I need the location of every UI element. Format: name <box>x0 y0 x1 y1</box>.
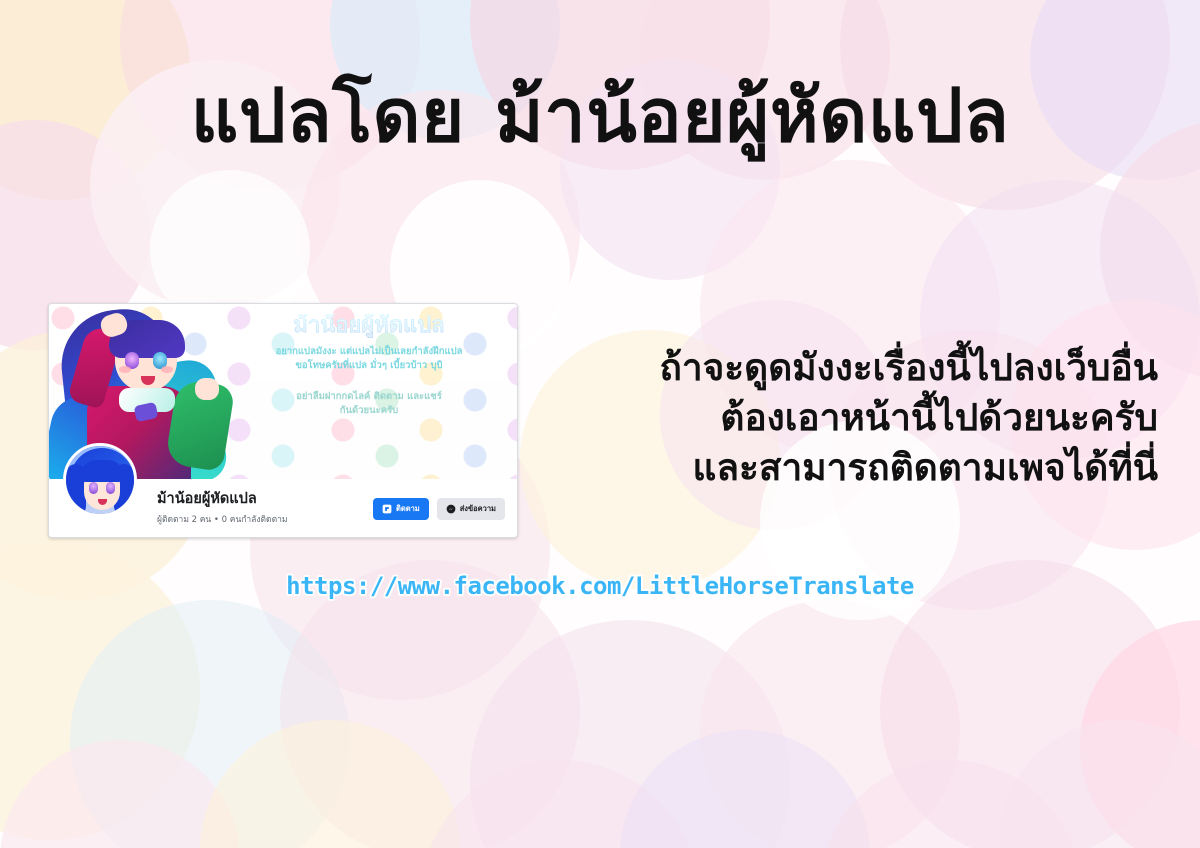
cover-text-block: ม้าน้อยผู้หัดแปล อยากแปลมังงะ แต่แปลไม่เ… <box>227 314 511 419</box>
messenger-icon <box>446 504 456 514</box>
page-title: แปลโดยม้าน้อยผู้หัดแปล <box>0 78 1200 156</box>
page-info: ม้าน้อยผู้หัดแปล ผู้ติดตาม 2 คน • 0 คนกำ… <box>157 491 287 525</box>
notice-line-3: และสามารถติดตามเพจได้ที่นี่ <box>530 443 1158 493</box>
cover-description-line2: ขอโทษครับที่แปล มั่วๆ เบี้ยวบ้าว บุบิ <box>227 359 511 373</box>
notice-line-1: ถ้าจะดูดมังงะเรื่องนี้ไปลงเว็บอื่น <box>530 343 1158 393</box>
cover-description-line1: อยากแปลมังงะ แต่แปลไม่เป็นเลยกำลังฝึกแปล <box>227 345 511 359</box>
avatar[interactable] <box>63 443 137 517</box>
follow-button[interactable]: ติดตาม <box>373 498 429 520</box>
follow-button-label: ติดตาม <box>396 503 420 515</box>
credit-page: แปลโดยม้าน้อยผู้หัดแปล <box>0 0 1200 848</box>
follower-stats: ผู้ติดตาม 2 คน • 0 คนกำลังติดตาม <box>157 512 287 526</box>
facebook-page-card[interactable]: ม้าน้อยผู้หัดแปล อยากแปลมังงะ แต่แปลไม่เ… <box>48 303 518 538</box>
page-name[interactable]: ม้าน้อยผู้หัดแปล <box>157 491 287 508</box>
cover-title: ม้าน้อยผู้หัดแปล <box>227 314 511 338</box>
page-title-part2: ม้าน้อยผู้หัดแปล <box>495 73 1009 159</box>
notice-text: ถ้าจะดูดมังงะเรื่องนี้ไปลงเว็บอื่น ต้องเ… <box>530 343 1180 493</box>
cover-callout-line2: กันด้วยนะครับ <box>227 404 511 419</box>
cover-description: อยากแปลมังงะ แต่แปลไม่เป็นเลยกำลังฝึกแปล… <box>227 345 511 374</box>
cover-callout-line1: อย่าลืมฝากกดไลค์ ติดตาม และแชร์ <box>227 390 511 405</box>
cover-callout: อย่าลืมฝากกดไลค์ ติดตาม และแชร์ กันด้วยน… <box>227 390 511 419</box>
notice-line-2: ต้องเอาหน้านี้ไปด้วยนะครับ <box>530 393 1158 443</box>
flag-follow-icon <box>382 504 392 514</box>
message-button-label: ส่งข้อความ <box>460 503 496 515</box>
card-actions: ติดตาม ส่งข้อความ <box>373 498 505 520</box>
facebook-url[interactable]: https://www.facebook.com/LittleHorseTran… <box>0 572 1200 600</box>
page-title-part1: แปลโดย <box>191 73 465 159</box>
facebook-card-footer: ม้าน้อยผู้หัดแปล ผู้ติดตาม 2 คน • 0 คนกำ… <box>49 479 517 538</box>
message-button[interactable]: ส่งข้อความ <box>437 498 505 520</box>
